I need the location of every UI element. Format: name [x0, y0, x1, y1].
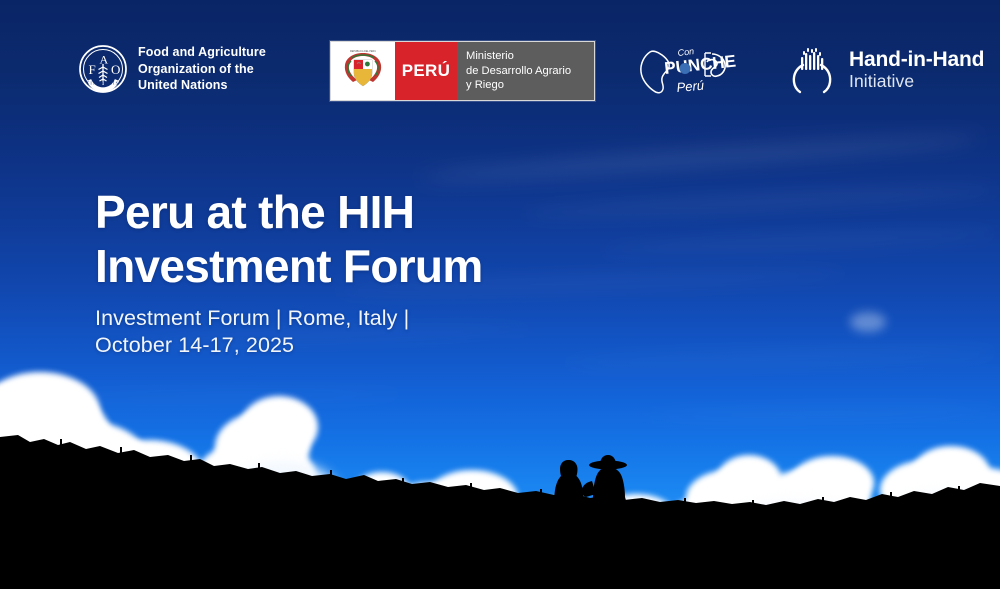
- svg-text:FIAT PANIS: FIAT PANIS: [87, 80, 119, 85]
- hand-in-hand-wordmark: Hand-in-Hand Initiative: [849, 48, 984, 91]
- hih-subtitle: Initiative: [849, 72, 984, 92]
- hih-title: Hand-in-Hand: [849, 48, 984, 72]
- peru-ministry-logo: REPUBLICA DEL PERU PERÚ Ministerio de De…: [330, 41, 595, 101]
- peru-coat-of-arms-icon: REPUBLICA DEL PERU: [331, 42, 395, 100]
- page-title: Peru at the HIH Investment Forum: [95, 186, 715, 294]
- hand-in-hand-logo: Hand-in-Hand Initiative: [786, 44, 984, 96]
- svg-text:F: F: [89, 62, 96, 77]
- event-banner: F A O FIAT PANIS Food and Agriculture Or…: [0, 0, 1000, 589]
- headline-block: Peru at the HIH Investment Forum Investm…: [95, 186, 715, 360]
- ground-silhouette: [0, 409, 1000, 589]
- event-details: Investment Forum | Rome, Italy | October…: [95, 305, 715, 360]
- svg-text:PUNCHE: PUNCHE: [663, 52, 736, 78]
- fao-emblem-icon: F A O FIAT PANIS: [78, 44, 128, 94]
- hands-with-grain-icon: [786, 44, 838, 96]
- fao-logo: F A O FIAT PANIS Food and Agriculture Or…: [78, 44, 266, 94]
- svg-text:O: O: [111, 62, 120, 77]
- peru-country-label: PERÚ: [395, 42, 457, 100]
- svg-text:A: A: [100, 53, 109, 67]
- peru-ministry-name: Ministerio de Desarrollo Agrario y Riego: [457, 42, 594, 100]
- logo-bar: F A O FIAT PANIS Food and Agriculture Or…: [0, 0, 1000, 140]
- small-cloud-puff: [850, 312, 886, 332]
- svg-text:Perú: Perú: [676, 78, 705, 95]
- con-punche-peru-logo: Con PUNCHE Perú: [632, 40, 736, 102]
- svg-text:REPUBLICA DEL PERU: REPUBLICA DEL PERU: [350, 50, 376, 53]
- fao-logo-text: Food and Agriculture Organization of the…: [138, 44, 266, 94]
